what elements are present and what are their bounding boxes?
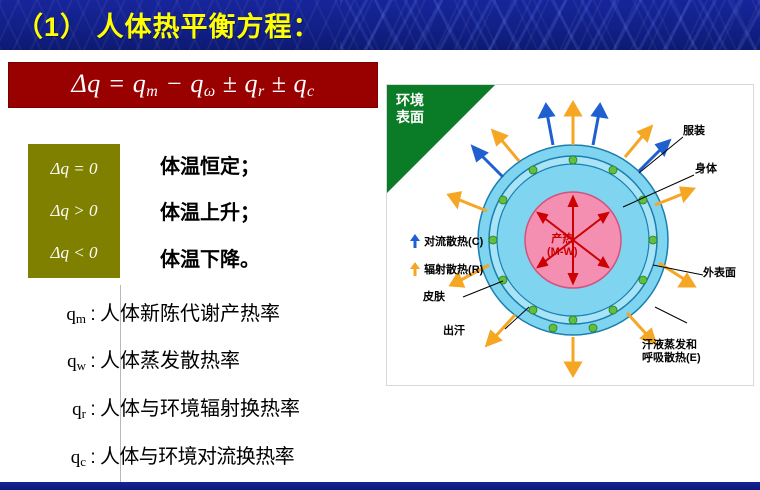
heat-balance-equation: Δq = qm − qω ± qr ± qc: [71, 69, 314, 101]
label-outer-surface: 外表面: [703, 267, 736, 280]
label-sweating: 出汗: [443, 325, 465, 338]
eq-term1-sub: m: [146, 83, 158, 100]
condition-box: Δq = 0 Δq > 0 Δq < 0: [28, 144, 120, 278]
definition-row-qw: qw:人体蒸发散热率: [30, 344, 375, 380]
heat-exchange-diagram: 环境 表面: [386, 84, 754, 386]
definition-colon-2: :: [86, 399, 100, 421]
condition-desc-1: 体温上升；: [160, 196, 260, 225]
eq-plusminus-2: ±: [272, 69, 287, 98]
page-title: （1） 人体热平衡方程：: [16, 5, 321, 44]
eq-lhs: Δq: [71, 69, 100, 98]
condition-desc-2: 体温下降。: [160, 243, 260, 272]
definition-symbol-qr: qr: [30, 399, 86, 422]
legend-convection: 对流散热(C): [409, 233, 483, 249]
definition-colon-3: :: [86, 447, 100, 469]
radiation-arrow-icon: [409, 262, 421, 276]
eq-term1: q: [133, 69, 147, 98]
condition-expr-0: Δq = 0: [51, 159, 98, 179]
legend-radiation-text: 辐射散热(R): [424, 264, 483, 276]
definition-text-qw: 人体蒸发散热率: [100, 350, 240, 372]
definition-row-qr: qr:人体与环境辐射换热率: [30, 392, 375, 428]
definition-text-qc: 人体与环境对流换热率: [100, 446, 294, 468]
definition-row-qc: qc:人体与环境对流换热率: [30, 440, 375, 476]
condition-expr-1: Δq > 0: [51, 201, 98, 221]
eq-term2-sub: ω: [204, 83, 216, 100]
label-clothing: 服装: [683, 125, 705, 138]
eq-term2: q: [190, 69, 204, 98]
slide-header-banner: （1） 人体热平衡方程：: [0, 0, 760, 50]
definition-text-qr: 人体与环境辐射换热率: [100, 398, 300, 420]
definition-symbol-qc: qc: [30, 447, 86, 470]
legend-radiation: 辐射散热(R): [409, 261, 483, 277]
definition-colon-1: :: [86, 351, 100, 373]
label-evaporation: 汗液蒸发和 呼吸散热(E): [642, 339, 701, 365]
legend-convection-text: 对流散热(C): [424, 236, 483, 248]
label-body: 身体: [695, 163, 717, 176]
slide-root: （1） 人体热平衡方程： Δq = qm − qω ± qr ± qc Δq =…: [0, 0, 760, 490]
eq-term3: q: [244, 69, 258, 98]
eq-equals: =: [108, 69, 126, 98]
eq-term4-sub: c: [307, 83, 315, 100]
definition-colon-0: :: [86, 304, 100, 326]
condition-desc-0: 体温恒定；: [160, 150, 260, 179]
label-metabolic-heat: 产热 (M-W): [547, 233, 578, 259]
banner-decoration: [340, 0, 760, 50]
label-skin: 皮肤: [423, 291, 445, 304]
definition-text-qm: 人体新陈代谢产热率: [100, 303, 280, 325]
definition-symbol-qw: qw: [30, 351, 86, 374]
convection-arrow-icon: [409, 234, 421, 248]
eq-term4: q: [293, 69, 307, 98]
slide-footer-bar: [0, 482, 760, 490]
eq-term3-sub: r: [258, 83, 265, 100]
condition-expr-2: Δq < 0: [51, 243, 98, 263]
eq-minus: −: [165, 69, 183, 98]
definition-row-qm: qm:人体新陈代谢产热率: [30, 297, 375, 333]
definition-symbol-qm: qm: [30, 304, 86, 327]
equation-banner: Δq = qm − qω ± qr ± qc: [8, 62, 378, 108]
eq-plusminus-1: ±: [223, 69, 238, 98]
